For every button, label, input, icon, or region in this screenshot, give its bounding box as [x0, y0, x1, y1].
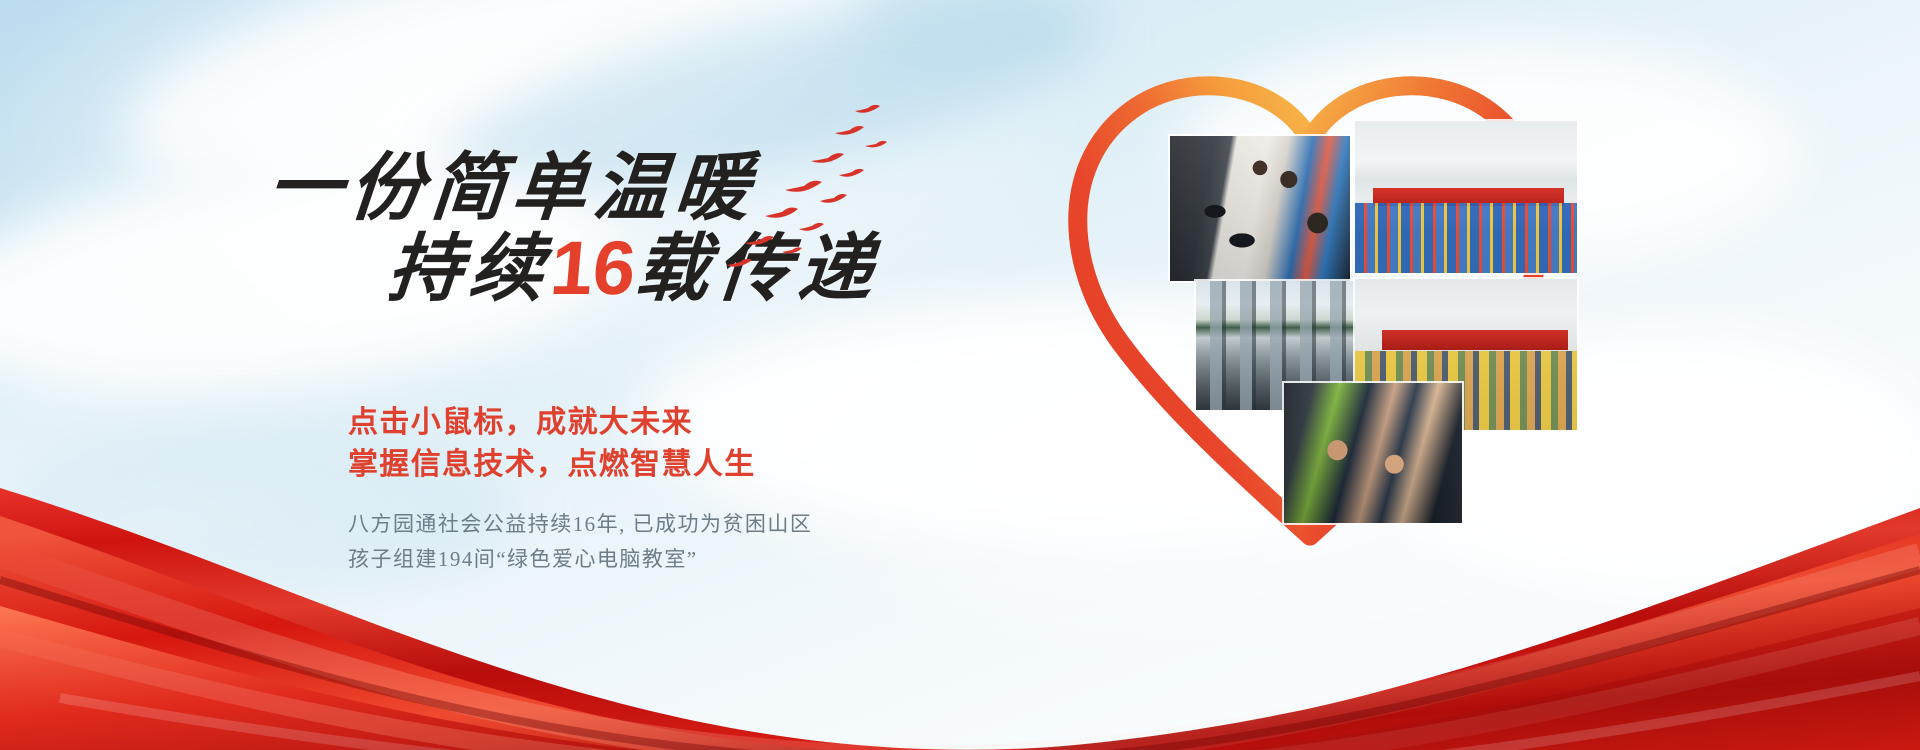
photo-collage — [1020, 50, 1600, 610]
headline-line-1: 一份简单温暖 — [265, 152, 760, 226]
photo-school-donation-ceremony — [1355, 121, 1577, 273]
banner-copy-block: 一份简单温暖 持续16载传递 点击小鼠标，成就大未来 掌握信息技术，点燃智慧人生… — [0, 0, 900, 620]
charity-hero-banner: 一份简单温暖 持续16载传递 点击小鼠标，成就大未来 掌握信息技术，点燃智慧人生… — [0, 0, 1920, 750]
photo-kids-at-computer — [1284, 383, 1462, 523]
photo-computer-lab-students — [1170, 136, 1350, 281]
description-line-1: 八方园通社会公益持续16年, 已成功为贫困山区 — [348, 508, 812, 538]
slogan-line-2: 掌握信息技术，点燃智慧人生 — [348, 439, 756, 483]
description-line-2: 孩子组建194间“绿色爱心电脑教室” — [348, 543, 698, 573]
headline-years-number: 16 — [547, 226, 639, 311]
headline-suffix: 载传递 — [632, 229, 883, 311]
headline-prefix: 持续 — [384, 229, 554, 311]
slogan-line-1: 点击小鼠标，成就大未来 — [348, 397, 693, 441]
headline-line-2: 持续16载传递 — [385, 231, 883, 307]
heart-collage-group — [1020, 50, 1600, 610]
